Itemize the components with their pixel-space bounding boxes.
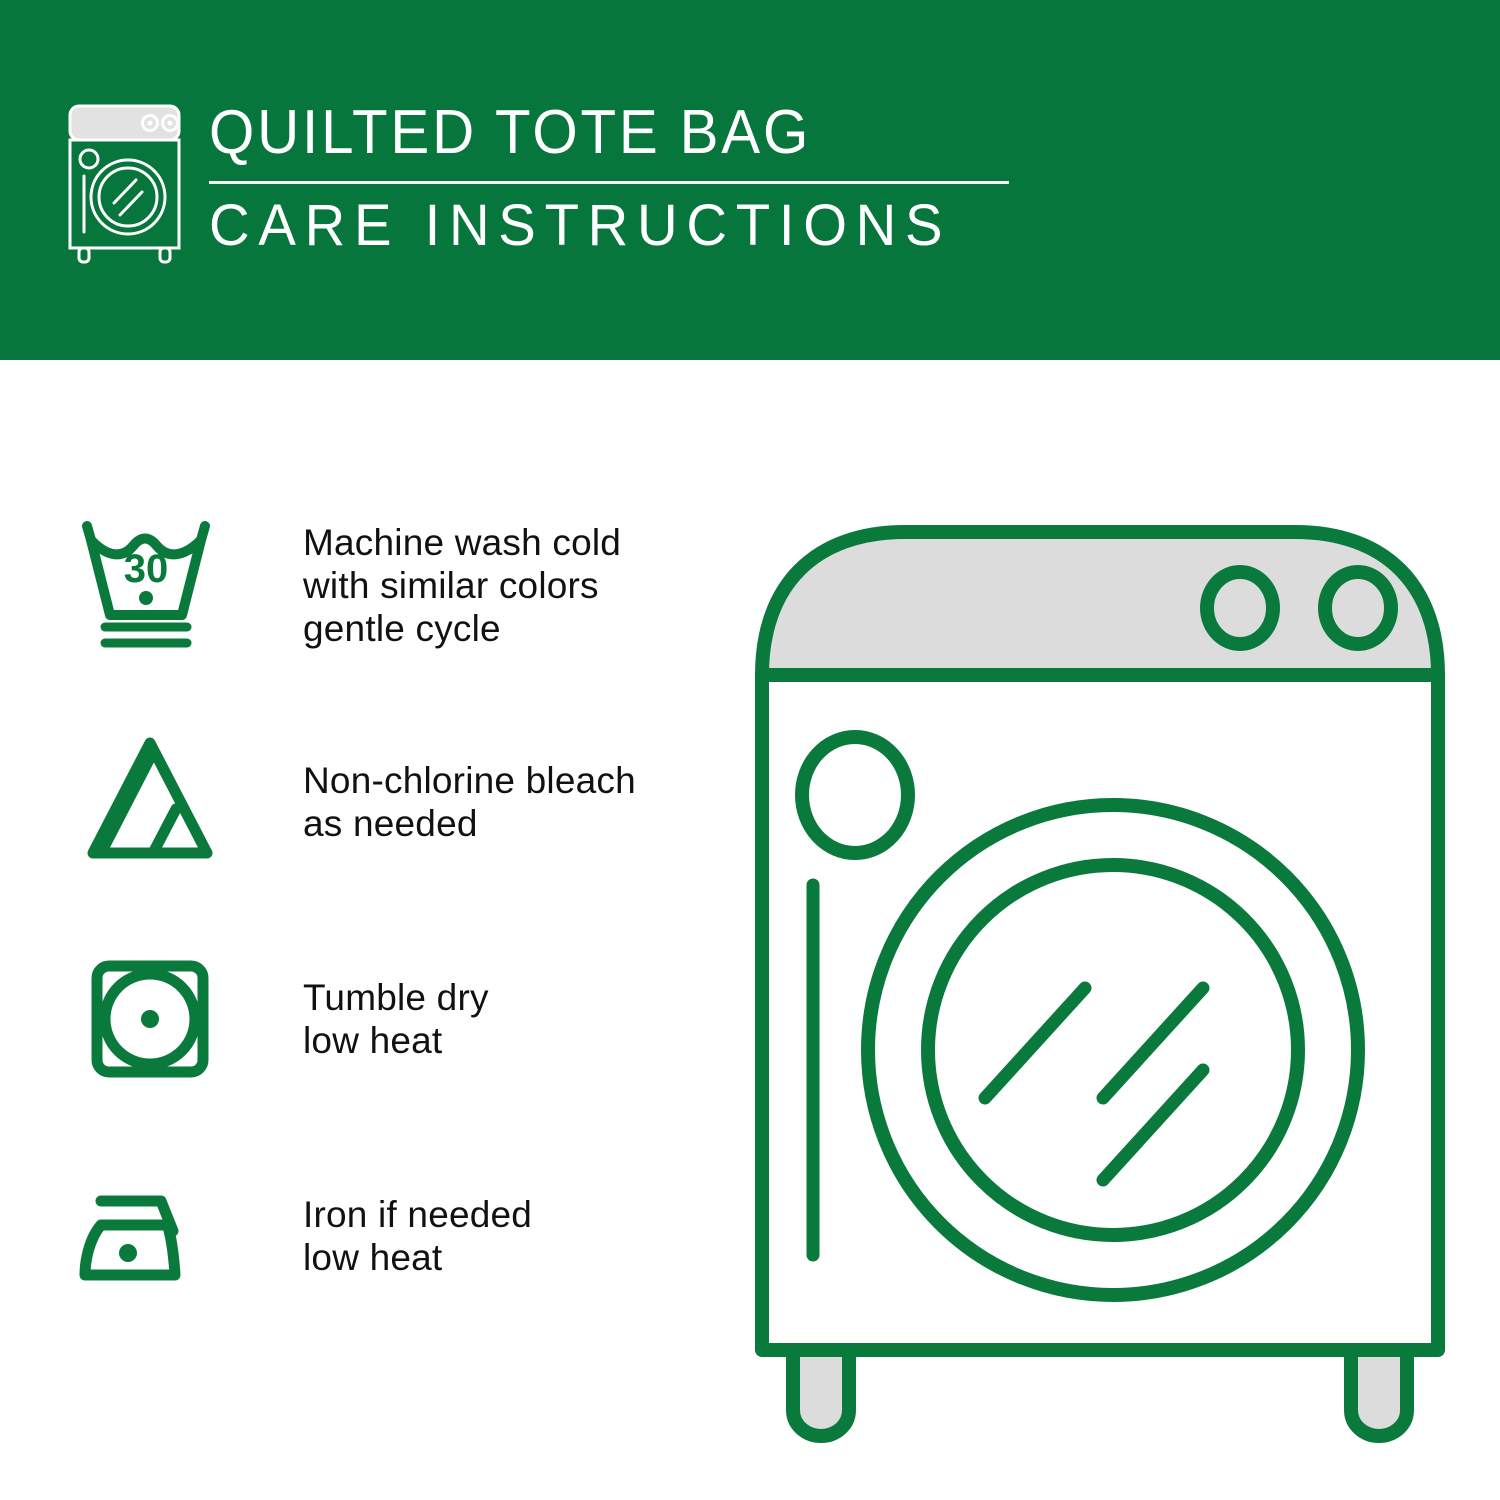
leg-right	[1351, 1350, 1407, 1436]
care-line-2: as needed	[303, 802, 636, 845]
wash-temperature-label: 30	[124, 547, 169, 591]
tumble-dry-low-symbol	[75, 944, 245, 1094]
main-content: 30 Machine wash cold with similar colors…	[0, 360, 1500, 1500]
care-row-bleach: Non-chlorine bleach as needed	[75, 722, 715, 882]
care-text-machine-wash: Machine wash cold with similar colors ge…	[245, 521, 621, 650]
control-panel	[762, 532, 1438, 675]
care-row-iron: Iron if needed low heat	[75, 1156, 715, 1316]
door-inner-ring	[928, 865, 1298, 1235]
care-row-tumble-dry: Tumble dry low heat	[75, 939, 715, 1099]
care-line-1: Tumble dry	[303, 976, 489, 1019]
header-title-block: QUILTED TOTE BAG CARE INSTRUCTIONS	[209, 98, 1009, 258]
header-content: QUILTED TOTE BAG CARE INSTRUCTIONS	[62, 96, 1009, 265]
care-line-1: Non-chlorine bleach	[303, 759, 636, 802]
iron-low-heat-symbol	[75, 1161, 245, 1311]
title-divider	[209, 181, 1009, 184]
header-banner: QUILTED TOTE BAG CARE INSTRUCTIONS	[0, 0, 1500, 360]
non-chlorine-bleach-symbol	[75, 727, 245, 877]
care-text-bleach: Non-chlorine bleach as needed	[245, 759, 636, 845]
care-row-machine-wash: 30 Machine wash cold with similar colors…	[75, 505, 715, 665]
care-line-3: gentle cycle	[303, 607, 621, 650]
leg-left	[793, 1350, 849, 1436]
care-line-2: with similar colors	[303, 564, 621, 607]
care-line-2: low heat	[303, 1236, 532, 1279]
shine-line-1	[985, 988, 1085, 1098]
care-text-tumble-dry: Tumble dry low heat	[245, 976, 489, 1062]
care-line-2: low heat	[303, 1019, 489, 1062]
machine-wash-30-gentle-symbol: 30	[75, 510, 245, 660]
washing-machine-icon	[62, 100, 187, 265]
care-text-iron: Iron if needed low heat	[245, 1193, 532, 1279]
door-outer-ring	[868, 805, 1358, 1295]
care-line-1: Machine wash cold	[303, 521, 621, 564]
page-subtitle: CARE INSTRUCTIONS	[209, 194, 985, 258]
page-title: QUILTED TOTE BAG	[209, 98, 961, 168]
detergent-dial	[802, 737, 908, 853]
care-instructions-list: 30 Machine wash cold with similar colors…	[75, 505, 715, 1316]
front-load-washing-machine-illustration	[745, 490, 1455, 1450]
care-line-1: Iron if needed	[303, 1193, 532, 1236]
